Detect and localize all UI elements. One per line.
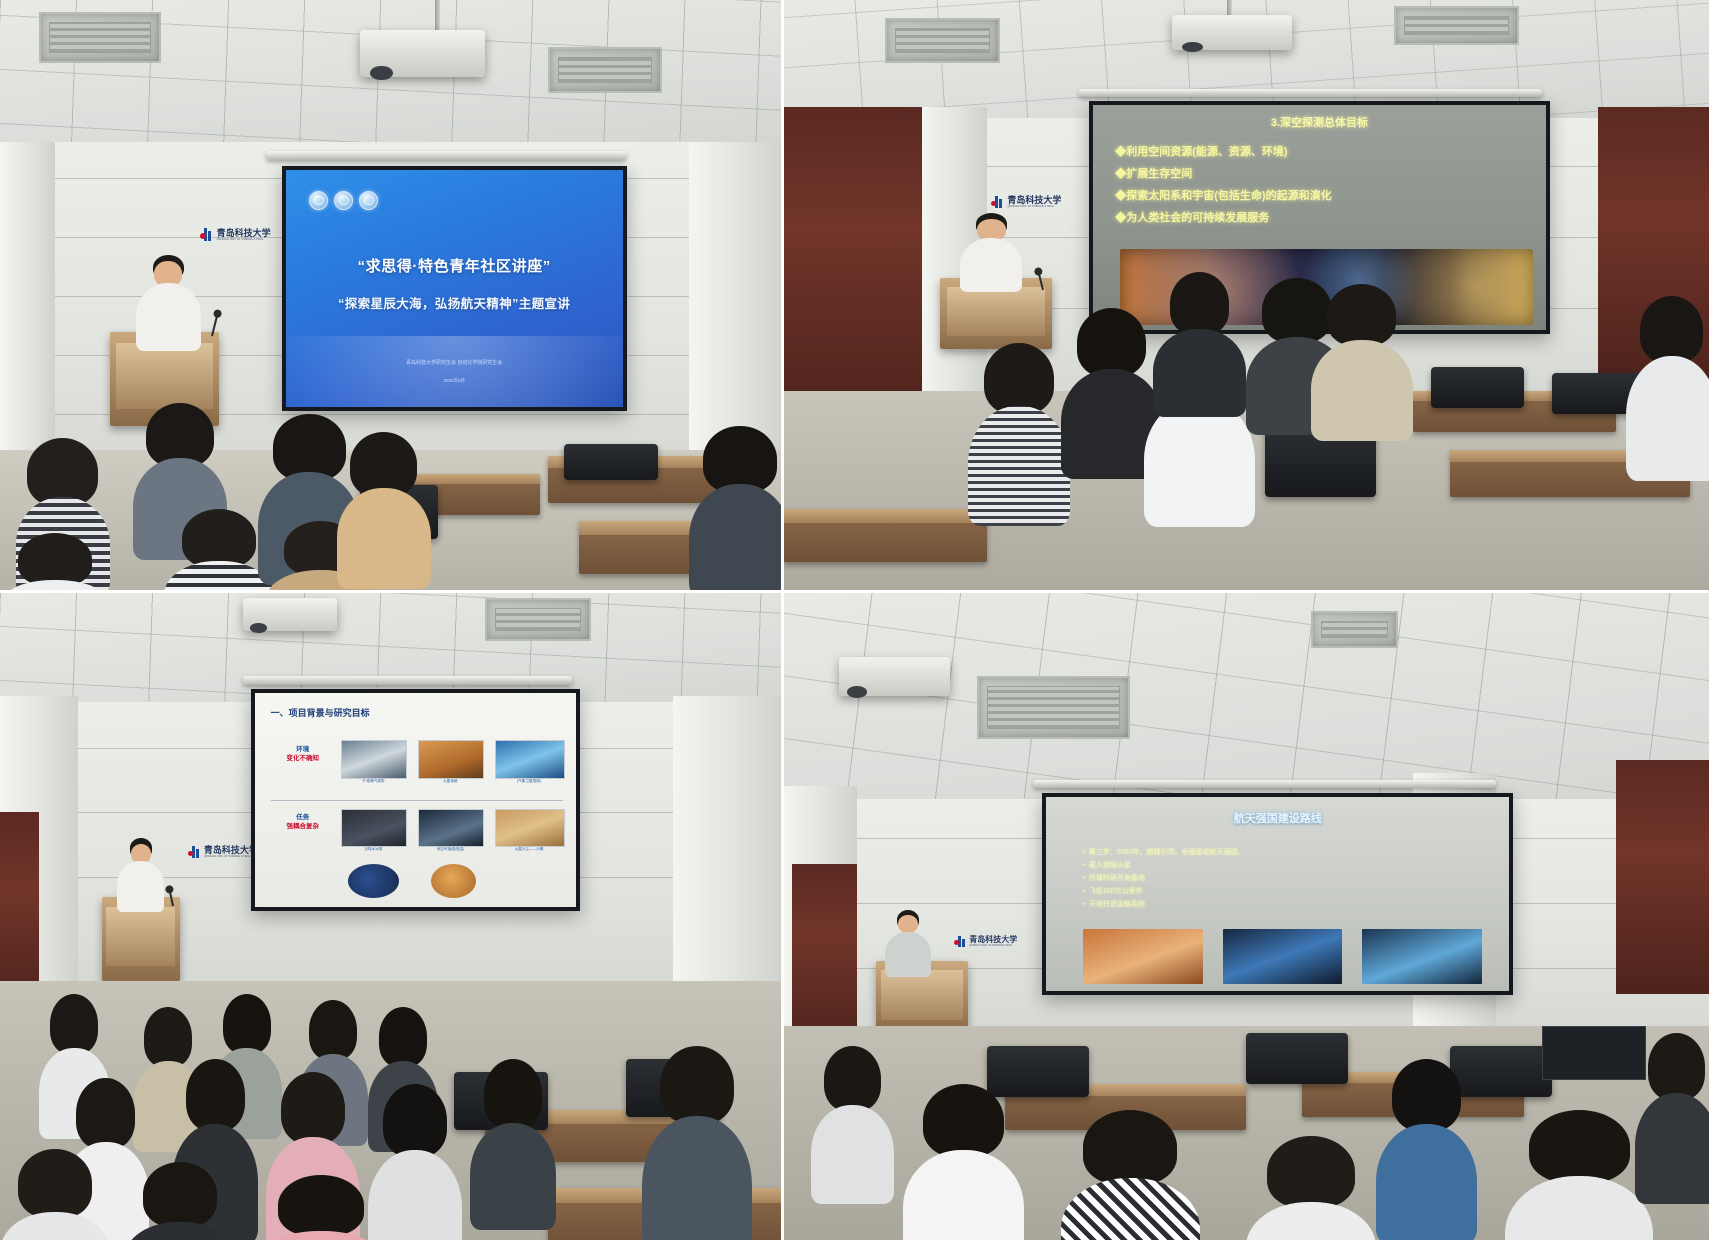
ceiling-vent <box>485 598 591 641</box>
ceiling-projector <box>839 657 950 696</box>
wall-logo: 青岛科技大学 QINGDAO UNIV. OF SCIENCE & TECH. <box>954 935 1017 948</box>
slide-thumbnail <box>1362 929 1481 983</box>
audience-member <box>1626 296 1709 474</box>
wall-pillar-right <box>689 142 783 474</box>
slide-thumbnail <box>418 740 484 778</box>
wall-pillar-left <box>0 142 55 474</box>
audience-member <box>0 1149 110 1240</box>
qust-logo-mark <box>200 228 214 241</box>
slide-thumbnail <box>1083 929 1202 983</box>
slide-divider <box>271 800 563 801</box>
slide-seal-group <box>309 191 378 210</box>
slide-thumbnail <box>341 740 407 778</box>
slide-thumbnail <box>495 740 564 778</box>
slide-title: “求思得·特色青年社区讲座” “探索星辰大海，弘扬航天精神”主题宣讲 青岛科技大… <box>286 170 623 407</box>
ceiling-vent-right <box>548 47 662 92</box>
ceiling-vent <box>977 676 1129 738</box>
audience-member <box>1635 1033 1709 1201</box>
slide-bullet: ◆利用空间资源(能源、资源、环境) <box>1115 143 1532 159</box>
slide-tag-line1: 环境 <box>296 746 309 753</box>
desk <box>783 509 987 562</box>
audience-member <box>1061 1110 1200 1240</box>
wall-logo-subtext: QINGDAO UNIV. OF SCIENCE & TECH. <box>1007 205 1061 209</box>
speaker-head <box>898 915 918 933</box>
slide-bullet: 天地往返运输系统 <box>1083 899 1490 909</box>
wall-logo: 青岛科技大学 QINGDAO UNIV. OF SCIENCE & TECH. <box>991 195 1061 209</box>
slide-thumbnail-caption: 火星沙尘——沙暴 <box>495 847 562 852</box>
control-panel <box>1542 1026 1646 1080</box>
audience-member <box>1311 284 1413 438</box>
speaker-body <box>117 861 164 912</box>
wall-logo-subtext: QINGDAO UNIV. OF SCIENCE & TECH. <box>217 238 271 242</box>
wood-panel-right <box>1616 760 1709 993</box>
wood-panel <box>792 864 857 1045</box>
slide-thumbnail <box>495 809 564 847</box>
slide-thumbnail-caption: 火星地貌 <box>418 779 482 784</box>
speaker <box>885 910 931 975</box>
slide-footer-date: 2025年6月 <box>286 378 623 384</box>
photo-collage: 青岛科技大学 QINGDAO UNIV. OF SCIENCE & TECH. … <box>0 0 1709 1240</box>
wall-logo-subtext: QINGDAO UNIV. OF SCIENCE & TECH. <box>969 944 1017 948</box>
ceiling-vent-right <box>1394 6 1518 46</box>
screen-roller <box>1079 89 1542 97</box>
audience-member <box>0 533 110 592</box>
ceiling-projector <box>1172 15 1292 51</box>
slide-research-background: 一、项目背景与研究目标 环境 变化不确知 任务 强耦合复杂 子/成像气候带 火星… <box>255 693 576 907</box>
chair <box>564 444 658 480</box>
slide-tag: 任务 强耦合复杂 <box>274 813 332 831</box>
qust-logo-mark <box>991 196 1004 208</box>
slide-bullet: 第三步：2050年，超越引领，全面建成航天强国。 <box>1083 847 1490 857</box>
wall-logo-text: 青岛科技大学 <box>217 228 271 238</box>
audience-member <box>968 343 1070 521</box>
projection-screen: 航天强国建设路线 第三步：2050年，超越引领，全面建成航天强国。 载人登陆火星… <box>1042 793 1513 995</box>
seal-icon <box>334 191 353 210</box>
ceiling-projector <box>360 30 485 77</box>
slide-heading: 3.深空探测总体目标 <box>1093 114 1547 130</box>
projection-screen: 一、项目背景与研究目标 环境 变化不确知 任务 强耦合复杂 子/成像气候带 火星… <box>251 689 580 911</box>
panel-divider-horizontal <box>0 590 1709 593</box>
slide-title-text: “求思得·特色青年社区讲座” <box>286 255 623 276</box>
audience-member <box>1153 272 1246 414</box>
audience-member <box>470 1059 556 1227</box>
speaker-body <box>136 283 201 351</box>
slide-bullet-list: 第三步：2050年，超越引领，全面建成航天强国。 载人登陆火星 月球科研开发基地… <box>1083 847 1490 912</box>
slide-diagram <box>431 864 476 898</box>
slide-bullet: ◆扩展生存空间 <box>1115 165 1532 181</box>
screen-roller <box>1033 780 1496 788</box>
slide-tag-line2: 强耦合复杂 <box>286 823 319 830</box>
projector-lens <box>370 66 393 80</box>
seal-icon <box>309 191 328 210</box>
ceiling-vent-small <box>1311 611 1398 647</box>
slide-subtitle-text: “探索星辰大海，弘扬航天精神”主题宣讲 <box>286 293 623 312</box>
audience-member <box>903 1084 1023 1240</box>
ceiling-vent-left <box>885 18 1000 63</box>
screen-roller <box>266 151 626 160</box>
slide-footer-org: 青岛科技大学研究生会 自动化学院研究生会 <box>286 359 623 366</box>
slide-bullet: 飞抵100亿公里外 <box>1083 886 1490 896</box>
projection-screen: “求思得·特色青年社区讲座” “探索星辰大海，弘扬航天精神”主题宣讲 青岛科技大… <box>282 166 627 411</box>
slide-thumbnail-caption: 子/成像气候带 <box>341 779 405 784</box>
speaker <box>959 213 1024 290</box>
wall-logo-text: 青岛科技大学 <box>969 935 1017 944</box>
slide-tag: 环境 变化不确知 <box>274 745 332 763</box>
wood-panel <box>0 812 39 1006</box>
slide-tag-line1: 任务 <box>296 814 309 821</box>
wall-pillar-right <box>673 696 783 1007</box>
slide-bullet: 月球科研开发基地 <box>1083 873 1490 883</box>
audience-member <box>125 1162 235 1240</box>
slide-bullet-list: ◆利用空间资源(能源、资源、环境) ◆扩展生存空间 ◆探索太阳系和宇宙(包括生命… <box>1115 143 1532 231</box>
audience-member <box>689 426 783 592</box>
speaker <box>133 255 203 350</box>
speaker-body <box>885 932 931 977</box>
slide-bullet: ◆为人类社会的可持续发展服务 <box>1115 209 1532 225</box>
audience-member <box>1246 1136 1376 1240</box>
projector-arm <box>435 0 440 33</box>
audience-member <box>642 1046 752 1240</box>
slide-thumbnail-caption: 月球水冰带 <box>341 847 405 852</box>
wall-logo: 青岛科技大学 QINGDAO UNIV. OF SCIENCE & TECH. <box>188 845 258 859</box>
slide-title-text: 一、项目背景与研究目标 <box>271 706 370 719</box>
ceiling-vent-left <box>39 12 160 63</box>
ceiling-projector <box>243 598 337 630</box>
audience-member <box>1376 1059 1478 1240</box>
slide-diagram <box>348 864 399 898</box>
panel-top-left: 青岛科技大学 QINGDAO UNIV. OF SCIENCE & TECH. … <box>0 0 783 592</box>
slide-title-text: 航天强国建设路线 <box>1046 810 1509 826</box>
audience-member <box>337 432 431 586</box>
qust-logo-mark <box>954 936 966 947</box>
speaker <box>117 838 164 909</box>
chair <box>1246 1033 1348 1085</box>
slide-thumbnail <box>341 809 407 847</box>
slide-thumbnail-caption: (气象卫星观测) <box>495 779 562 784</box>
audience-member <box>1505 1110 1653 1240</box>
slide-bullet: 载人登陆火星 <box>1083 860 1490 870</box>
screen-roller <box>243 676 572 684</box>
audience-member <box>811 1046 894 1202</box>
seal-icon <box>359 191 378 210</box>
slide-aerospace-roadmap: 航天强国建设路线 第三步：2050年，超越引领，全面建成航天强国。 载人登陆火星… <box>1046 797 1509 991</box>
slide-tag-line2: 变化不确知 <box>286 755 319 762</box>
speaker-body <box>960 238 1022 292</box>
audience-member <box>258 1175 383 1240</box>
slide-thumbnail-row <box>1083 929 1481 983</box>
slide-thumbnail-caption: 深空环境(极低温) <box>418 847 482 852</box>
wall-logo-text: 青岛科技大学 <box>1007 195 1061 205</box>
panel-top-right: 青岛科技大学 QINGDAO UNIV. OF SCIENCE & TECH. … <box>783 0 1709 592</box>
chair <box>1431 367 1524 408</box>
slide-bullet: ◆探索太阳系和宇宙(包括生命)的起源和演化 <box>1115 187 1532 203</box>
slide-thumbnail <box>1223 929 1342 983</box>
qust-logo-mark <box>188 846 201 858</box>
panel-bottom-left: 青岛科技大学 QINGDAO UNIV. OF SCIENCE & TECH. … <box>0 592 783 1240</box>
panel-divider-vertical <box>781 0 784 1240</box>
wood-panel <box>783 107 922 415</box>
slide-thumbnail <box>418 809 484 847</box>
wall-logo: 青岛科技大学 QINGDAO UNIV. OF SCIENCE & TECH. <box>200 228 271 242</box>
projector-lens <box>250 623 267 633</box>
panel-bottom-right: 青岛科技大学 QINGDAO UNIV. OF SCIENCE & TECH. … <box>783 592 1709 1240</box>
